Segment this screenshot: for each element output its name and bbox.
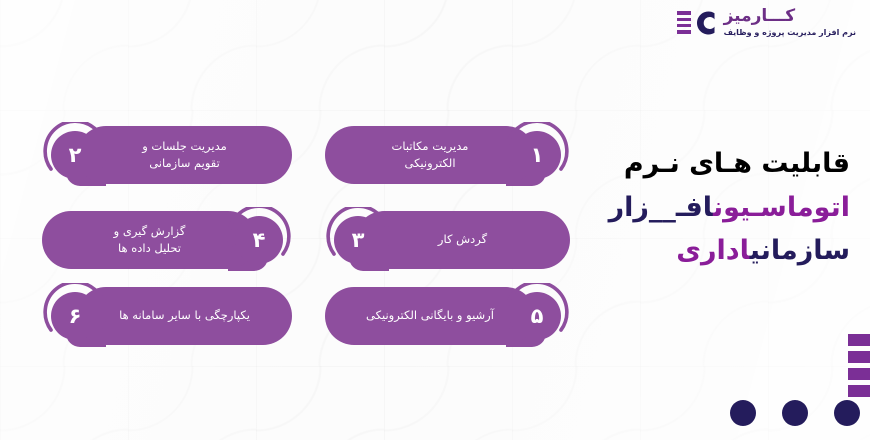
feature-item-6[interactable]: یکپارچگی با سایر سامانه ها ۶	[42, 279, 292, 353]
brand-logo: کـــارمیز نرم افزار مدیریت پروژه و وظایف	[677, 8, 856, 37]
feature-badge: ۴	[226, 207, 292, 273]
pill-body[interactable]: یکپارچگی با سایر سامانه ها	[77, 287, 292, 345]
feature-badge: ۳	[325, 207, 391, 273]
headline-line-2-main: افـ__زار	[609, 192, 713, 223]
feature-label: یکپارچگی با سایر سامانه ها	[77, 307, 292, 324]
feature-number: ۱	[531, 145, 544, 166]
feature-label: گزارش گیری و تحلیل داده ها	[42, 223, 257, 258]
headline-line-2-accent: اتوماسـیون	[713, 192, 850, 223]
decor-dots	[730, 400, 860, 426]
brand-text-block: کـــارمیز نرم افزار مدیریت پروژه و وظایف	[724, 8, 856, 37]
headline-line-1: قابلیت هـای نـرم	[592, 142, 850, 186]
feature-item-2[interactable]: مدیریت جلسات و تقویم سازمانی ۲	[42, 118, 292, 192]
feature-badge: ۱	[504, 122, 570, 188]
headline-line-2: اتوماسـیونافـ__زار	[592, 186, 850, 230]
brand-mark	[677, 10, 716, 36]
headline-line-3: سازمانیاداری	[592, 229, 850, 273]
badge-disc: ۵	[513, 292, 561, 340]
feature-grid: مدیریت مکاتبات الکترونیکی ۱ مدیریت جلسات…	[0, 0, 600, 440]
feature-number: ۳	[352, 230, 365, 251]
pill-body[interactable]: مدیریت جلسات و تقویم سازمانی	[77, 126, 292, 184]
pill-body[interactable]: گزارش گیری و تحلیل داده ها	[42, 211, 257, 269]
feature-label: مدیریت جلسات و تقویم سازمانی	[77, 138, 292, 173]
decor-bars	[848, 334, 870, 397]
feature-number: ۲	[69, 145, 82, 166]
feature-item-3[interactable]: گردش کار ۳	[325, 203, 570, 277]
feature-badge: ۲	[42, 122, 108, 188]
c-mark-icon	[694, 10, 716, 36]
brand-name: کـــارمیز	[724, 8, 796, 25]
headline-line-3-accent: اداری	[676, 235, 750, 266]
badge-disc: ۱	[513, 131, 561, 179]
feature-item-5[interactable]: آرشیو و بایگانی الکترونیکی ۵	[325, 279, 570, 353]
feature-number: ۵	[531, 306, 544, 327]
feature-number: ۴	[253, 230, 266, 251]
feature-badge: ۶	[42, 283, 108, 349]
feature-item-1[interactable]: مدیریت مکاتبات الکترونیکی ۱	[325, 118, 570, 192]
badge-disc: ۳	[334, 216, 382, 264]
page-title: قابلیت هـای نـرم اتوماسـیونافـ__زار سازم…	[592, 142, 850, 273]
badge-disc: ۲	[51, 131, 99, 179]
logo-bars-icon	[677, 11, 691, 33]
feature-number: ۶	[69, 306, 82, 327]
feature-item-4[interactable]: گزارش گیری و تحلیل داده ها ۴	[42, 203, 292, 277]
brand-tagline: نرم افزار مدیریت پروژه و وظایف	[724, 29, 856, 37]
headline-line-3-main: سازمانی	[750, 235, 850, 266]
badge-disc: ۴	[235, 216, 283, 264]
feature-badge: ۵	[504, 283, 570, 349]
badge-disc: ۶	[51, 292, 99, 340]
